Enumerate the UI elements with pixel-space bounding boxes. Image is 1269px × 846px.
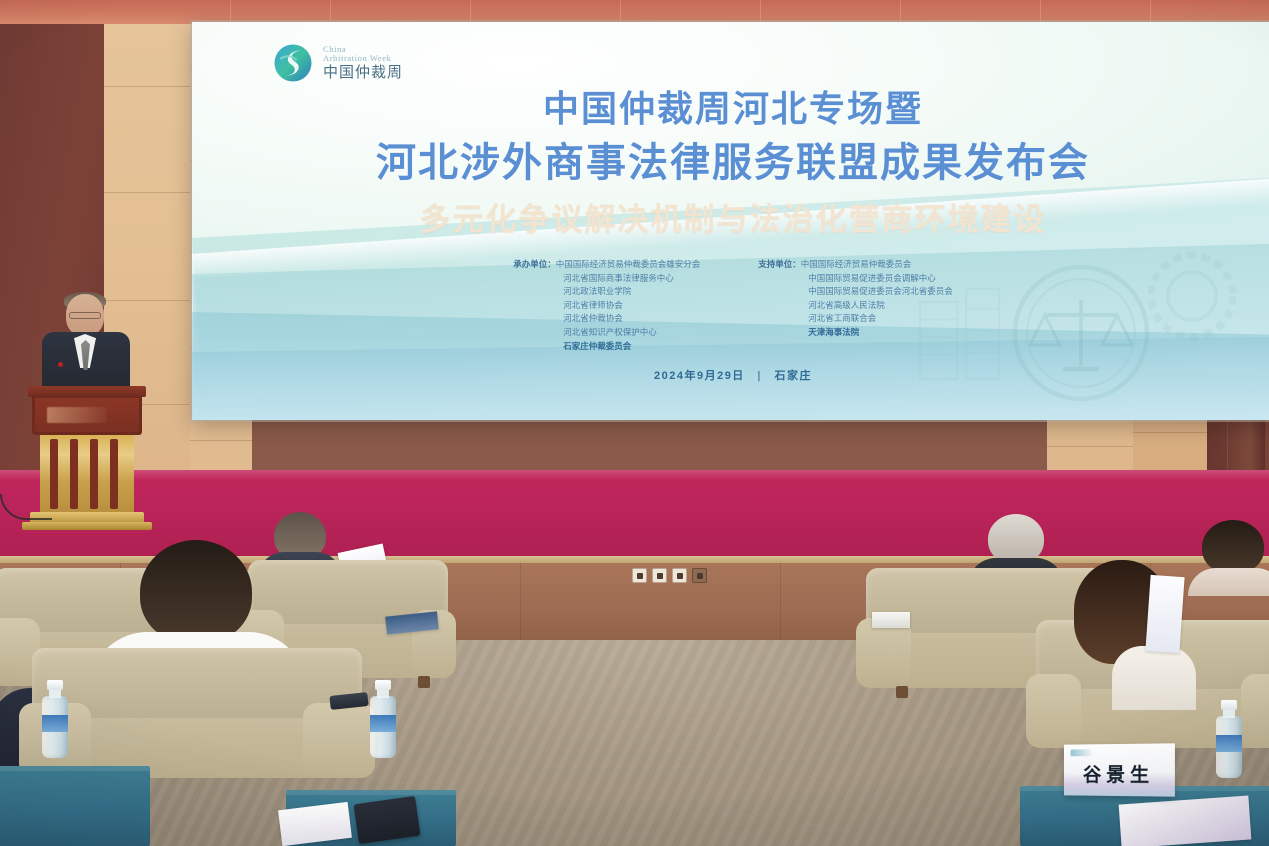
attendee-back-far-right [1196, 520, 1269, 592]
organizers-column: 承办单位：中国国际经济贸易仲裁委员会雄安分会 河北省国际商事法律服务中心 河北政… [513, 258, 700, 353]
event-title-line-1: 中国仲裁周河北专场暨 [192, 80, 1269, 132]
organizer-item: 河北政法职业学院 [563, 285, 631, 299]
power-outlet-icon[interactable] [652, 568, 667, 583]
ceiling-band [0, 0, 1269, 24]
event-logo: China Arbitration Week 中国仲裁周 [272, 42, 403, 84]
date-separator: | [757, 370, 762, 382]
event-date: 2024年9月29日 [654, 370, 745, 382]
supporter-item: 河北省高级人民法院 [808, 299, 885, 313]
organizer-item: 河北省律师协会 [563, 299, 623, 313]
power-outlet-icon[interactable] [632, 568, 647, 583]
av-port-plate[interactable] [692, 568, 707, 583]
power-outlet-icon[interactable] [672, 568, 687, 583]
organizer-item: 河北省知识产权保护中心 [563, 326, 657, 340]
podium-base-plinth [22, 522, 152, 530]
water-bottle[interactable] [370, 680, 396, 758]
lapel-pin [58, 362, 63, 367]
conference-hall-photo: China Arbitration Week 中国仲裁周 中国仲裁周河北专场暨 … [0, 0, 1269, 846]
supporter-item: 天津海事法院 [808, 326, 859, 340]
event-title-line-2: 河北涉外商事法律服务联盟成果发布会 [192, 130, 1269, 188]
organizers-label: 承办单位： [513, 258, 556, 272]
organizer-block: 承办单位：中国国际经济贸易仲裁委员会雄安分会 河北省国际商事法律服务中心 河北政… [192, 258, 1269, 353]
name-card-name: 谷景生 [1064, 760, 1175, 788]
water-bottle[interactable] [42, 680, 68, 758]
name-card-logo-icon [1071, 749, 1092, 756]
organizer-item: 河北省仲裁协会 [563, 312, 623, 326]
logo-english-2: Arbitration Week [323, 54, 403, 63]
delegate-name-card: 谷景生 [1064, 743, 1175, 796]
event-location: 石家庄 [775, 370, 813, 382]
podium-emblem [47, 407, 107, 423]
supporter-item: 中国国际经济贸易仲裁委员会 [801, 258, 912, 272]
podium-front-panel [32, 395, 142, 435]
organizer-item: 河北省国际商事法律服务中心 [563, 272, 674, 286]
supporter-item: 中国国际贸易促进委员会河北省委员会 [808, 285, 953, 299]
paper-on-armrest[interactable] [872, 612, 910, 628]
event-subtitle: 多元化争议解决机制与法治化营商环境建设 [192, 194, 1269, 239]
globe-swirl-icon [272, 42, 314, 84]
speaker-glasses [69, 312, 101, 319]
logo-chinese: 中国仲裁周 [323, 66, 403, 82]
supporters-column: 支持单位：中国国际经济贸易仲裁委员会 中国国际贸易促进委员会调解中心 中国国际贸… [758, 258, 953, 353]
event-date-location: 2024年9月29日 | 石家庄 [192, 367, 1269, 383]
supporters-label: 支持单位： [758, 258, 801, 272]
water-bottle[interactable] [1216, 700, 1242, 778]
organizer-item: 中国国际经济贸易仲裁委员会雄安分会 [556, 258, 701, 272]
program-booklet[interactable] [1119, 796, 1252, 846]
podium-gold-column [40, 435, 134, 513]
reading-document[interactable] [1145, 575, 1184, 653]
table-front-far-left [0, 766, 150, 846]
supporter-item: 中国国际贸易促进委员会调解中心 [808, 272, 936, 286]
tablet-device[interactable] [354, 796, 421, 844]
organizer-item: 石家庄仲裁委员会 [563, 340, 631, 354]
sofa-front-left[interactable] [32, 648, 362, 778]
supporter-item: 河北省工商联合会 [808, 312, 876, 326]
stage-led-screen: China Arbitration Week 中国仲裁周 中国仲裁周河北专场暨 … [192, 22, 1269, 420]
